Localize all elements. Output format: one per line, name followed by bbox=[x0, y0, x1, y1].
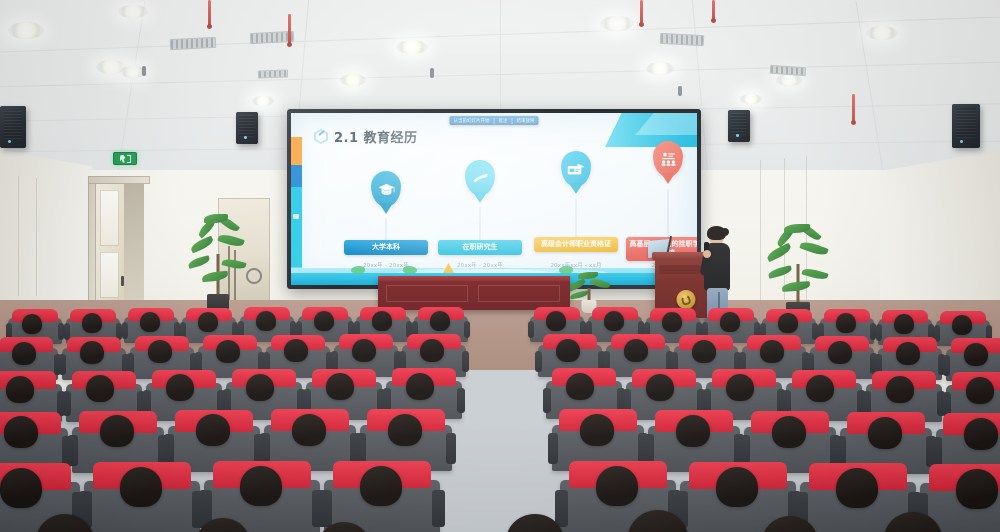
audience-member-foreground bbox=[762, 516, 818, 532]
plant-leaf bbox=[217, 232, 245, 249]
audience-member bbox=[120, 467, 162, 507]
audience-member bbox=[566, 373, 594, 400]
bicycle-wheel bbox=[246, 268, 262, 284]
audience-member bbox=[894, 314, 914, 334]
audience-member bbox=[676, 415, 710, 447]
ceiling-light bbox=[252, 96, 274, 106]
speaker-led bbox=[736, 134, 739, 137]
timeline-badge-1: 大学本科 bbox=[344, 240, 428, 255]
table-top-edge bbox=[378, 276, 570, 281]
ceiling-light bbox=[600, 16, 634, 31]
speaker-led bbox=[8, 140, 11, 143]
audience-member bbox=[720, 312, 740, 332]
ppt-presenter-toolbar[interactable]: 从当前幻灯片开始 批注 结束放映 bbox=[450, 116, 539, 125]
plant-leaf bbox=[782, 281, 811, 292]
certificate-card-icon bbox=[561, 151, 591, 187]
timeline-stem bbox=[576, 198, 577, 240]
edge-block-orange bbox=[291, 137, 302, 165]
audience-member bbox=[760, 340, 784, 363]
audience-member bbox=[964, 418, 998, 450]
audience-member bbox=[6, 376, 34, 403]
speaker-led bbox=[244, 136, 247, 139]
edge-dot bbox=[293, 214, 299, 219]
timeline-group: 大学本科 20xx年 - 20xx年 xx大学xx学院学院，xx专业本科。 在职… bbox=[305, 151, 691, 265]
sprinkler-head bbox=[678, 86, 682, 96]
book-icon bbox=[465, 160, 495, 196]
audience-member bbox=[240, 466, 282, 506]
door-glass bbox=[100, 190, 119, 246]
audience-member bbox=[778, 313, 798, 333]
slide-left-edge-decor bbox=[291, 113, 302, 285]
projection-screen[interactable]: 2.1 教育经历 从当前幻灯片开始 批注 结束放映 bbox=[291, 113, 697, 285]
ceiling-light bbox=[396, 40, 428, 54]
audience-member-foreground bbox=[36, 514, 94, 532]
sprinkler-head bbox=[142, 66, 146, 76]
ceiling-light bbox=[8, 22, 44, 39]
timeline-item-3[interactable]: 高级会计师职业资格证 20xx年xx月 - xx月 xx工业学院学习培训班。 bbox=[533, 151, 619, 265]
sprinkler-pipe bbox=[852, 94, 855, 122]
audience-member bbox=[256, 311, 276, 331]
timeline-stem bbox=[668, 189, 669, 237]
audience-member bbox=[430, 311, 450, 331]
ceiling-vent bbox=[660, 33, 705, 46]
edge-block-blue bbox=[291, 165, 302, 187]
timeline-stem bbox=[480, 207, 481, 240]
open-book-glyph bbox=[472, 172, 489, 184]
door-header bbox=[88, 176, 150, 184]
ceiling-light bbox=[776, 74, 802, 86]
people-group-icon bbox=[653, 141, 683, 177]
ceiling-light bbox=[340, 74, 366, 86]
audience-member-foreground bbox=[506, 514, 564, 532]
sprinkler-pipe bbox=[288, 14, 291, 44]
audience-member bbox=[12, 342, 36, 365]
audience-member bbox=[80, 341, 104, 364]
audience-seating bbox=[0, 300, 1000, 532]
audience-member bbox=[86, 375, 114, 402]
plant-leaf bbox=[187, 255, 210, 269]
timeline-badge-2: 在职研究生 bbox=[438, 240, 522, 255]
audience-member bbox=[596, 466, 638, 506]
leaf-decor bbox=[351, 266, 365, 274]
audience-member bbox=[966, 377, 994, 404]
audience-member bbox=[22, 314, 42, 334]
audience-member-foreground bbox=[196, 518, 250, 532]
sprinkler-pipe bbox=[208, 0, 211, 26]
audience-member bbox=[692, 340, 716, 363]
audience-member bbox=[624, 339, 648, 362]
audience-member bbox=[284, 339, 308, 362]
audience-member bbox=[952, 315, 972, 335]
toolbar-separator bbox=[512, 118, 513, 124]
audience-member bbox=[246, 374, 274, 401]
audience-member bbox=[196, 414, 230, 446]
projection-screen-bezel: 2.1 教育经历 从当前幻灯片开始 批注 结束放映 bbox=[287, 109, 701, 289]
audience-member bbox=[662, 312, 682, 332]
audience-member bbox=[604, 311, 624, 331]
audience-member bbox=[4, 416, 38, 448]
graduation-cap-icon bbox=[371, 171, 401, 207]
timeline-item-1[interactable]: 大学本科 20xx年 - 20xx年 xx大学xx学院学院，xx专业本科。 bbox=[343, 151, 429, 265]
exit-door-glyph bbox=[127, 155, 131, 163]
audience-member bbox=[556, 339, 580, 362]
audience-member bbox=[964, 343, 988, 366]
wall-seam bbox=[760, 160, 761, 310]
toolbar-item-end[interactable]: 结束放映 bbox=[517, 118, 535, 124]
sprinkler-pipe bbox=[640, 0, 643, 24]
auditorium-scene: 2.1 教育经历 从当前幻灯片开始 批注 结束放映 bbox=[0, 0, 1000, 532]
presenter-hair-bun bbox=[721, 228, 729, 236]
toolbar-item-start[interactable]: 从当前幻灯片开始 bbox=[454, 118, 490, 124]
slide-title-group: 2.1 教育经历 bbox=[314, 127, 418, 146]
audience-member bbox=[292, 414, 326, 446]
plant-leaf bbox=[799, 239, 828, 257]
audience-member bbox=[372, 311, 392, 331]
audience-member bbox=[198, 312, 218, 332]
wall-speaker-right bbox=[952, 104, 980, 148]
plant-leaf bbox=[202, 271, 229, 283]
plant-leaf bbox=[221, 257, 246, 271]
audience-member bbox=[646, 374, 674, 401]
ceiling-light bbox=[118, 5, 148, 18]
ceiling-vent bbox=[258, 69, 288, 78]
door-handle[interactable] bbox=[121, 276, 124, 286]
ceiling-light bbox=[866, 26, 898, 40]
audience-member bbox=[352, 339, 376, 362]
timeline-badge-3: 高级会计师职业资格证 bbox=[534, 237, 618, 252]
audience-member-foreground bbox=[884, 512, 942, 532]
audience-member bbox=[216, 340, 240, 363]
door-frame[interactable] bbox=[88, 176, 96, 306]
exit-sign-icon bbox=[113, 152, 137, 165]
audience-member-foreground bbox=[318, 522, 370, 532]
toolbar-item-annotate[interactable]: 批注 bbox=[499, 118, 508, 124]
audience-member bbox=[546, 311, 566, 331]
audience-member bbox=[388, 414, 422, 446]
audience-member bbox=[326, 373, 354, 400]
leaf-decor bbox=[403, 266, 417, 274]
audience-member bbox=[82, 313, 102, 333]
running-man-glyph bbox=[120, 155, 126, 163]
audience-member bbox=[956, 469, 998, 509]
wall-speaker-center-left bbox=[236, 112, 258, 144]
audience-member bbox=[140, 312, 160, 332]
presenter-hand bbox=[703, 250, 711, 258]
hexagon-pen-icon bbox=[314, 129, 328, 144]
audience-member bbox=[360, 466, 402, 506]
plant-leaf bbox=[801, 267, 828, 282]
wall-seam bbox=[36, 178, 37, 296]
audience-member bbox=[166, 374, 194, 401]
sprinkler-pipe bbox=[712, 0, 715, 20]
wall-seam bbox=[18, 176, 19, 296]
door-glass bbox=[100, 252, 119, 298]
people-chart-glyph bbox=[660, 152, 677, 166]
sprinkler-head bbox=[430, 68, 434, 78]
toolbar-separator bbox=[494, 118, 495, 124]
audience-member bbox=[836, 468, 878, 508]
audience-member bbox=[314, 311, 334, 331]
audience-member bbox=[772, 416, 806, 448]
page-title: 2.1 教育经历 bbox=[334, 127, 418, 146]
audience-member-foreground bbox=[628, 510, 688, 532]
ceiling-light bbox=[740, 94, 762, 104]
audience-member bbox=[100, 415, 134, 447]
audience-member bbox=[836, 313, 856, 333]
timeline-item-2[interactable]: 在职研究生 20xx年 - 20xx年 xx大学xx学院硕士研究生，行政管理专业… bbox=[437, 151, 523, 265]
wall-speaker-left bbox=[0, 106, 26, 148]
speaker-led bbox=[960, 140, 963, 143]
plant-leaf bbox=[767, 265, 792, 279]
audience-member bbox=[0, 468, 42, 508]
audience-member bbox=[806, 375, 834, 402]
audience-member bbox=[716, 467, 758, 507]
audience-member bbox=[726, 374, 754, 401]
potted-plant-left bbox=[188, 214, 248, 310]
audience-member bbox=[420, 339, 444, 362]
certificate-glyph bbox=[567, 163, 585, 176]
audience-member bbox=[828, 341, 852, 364]
audience-member bbox=[580, 414, 614, 446]
timeline-stem bbox=[386, 218, 387, 240]
plant-leaf bbox=[589, 277, 610, 290]
plant-leaf bbox=[570, 290, 589, 299]
audience-member bbox=[886, 376, 914, 403]
audience-member bbox=[406, 373, 434, 400]
audience-member bbox=[148, 340, 172, 363]
ceiling-light bbox=[646, 62, 674, 75]
audience-member bbox=[868, 417, 902, 449]
wall-speaker-center-right bbox=[728, 110, 750, 142]
graduation-cap-glyph bbox=[378, 183, 395, 196]
audience-member bbox=[896, 342, 920, 365]
